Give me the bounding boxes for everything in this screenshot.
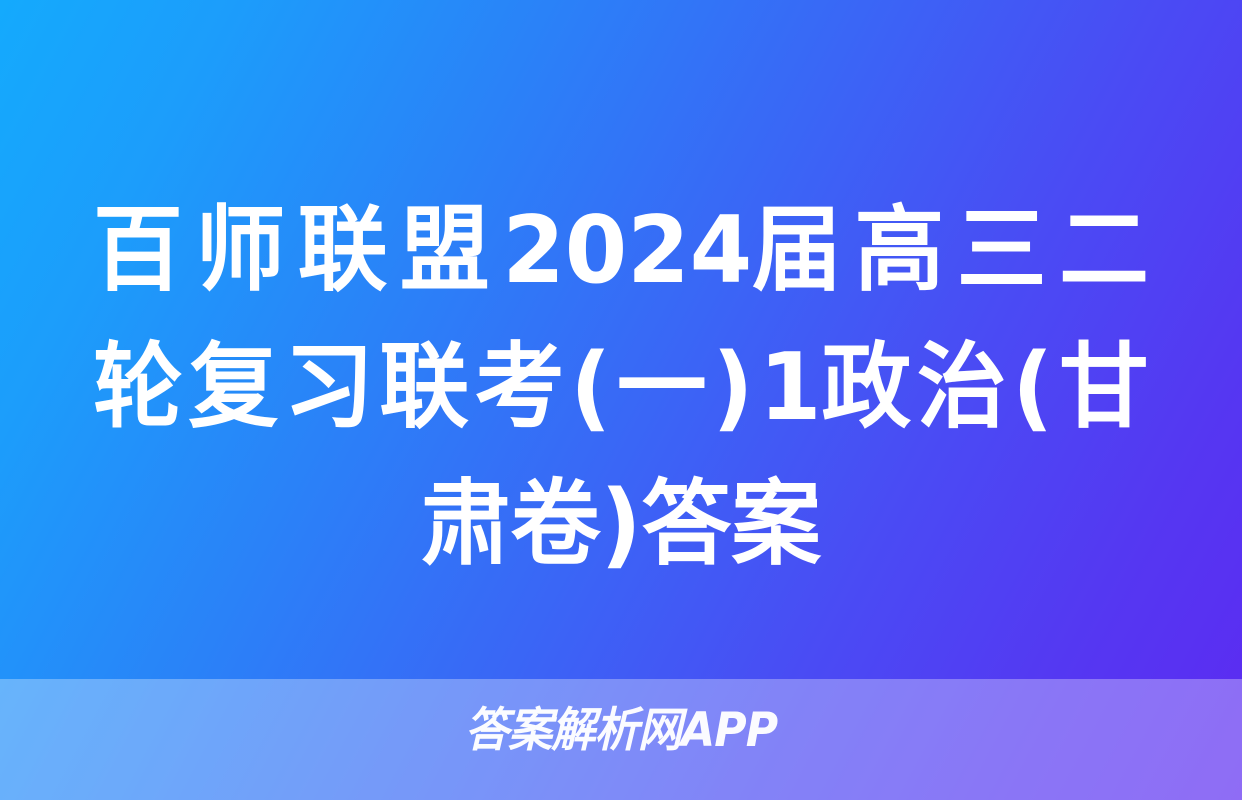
answer-cover-poster: 百 师 联 盟 2024届 高 三 二 轮 复 习 联 考 ( 一 ) 1政 治… bbox=[0, 0, 1242, 800]
title-line-2-seg-10: ( bbox=[1012, 319, 1053, 456]
title-line-1-seg-6: 三 bbox=[957, 182, 1047, 319]
title-line-2-seg-0: 轮 bbox=[93, 319, 183, 456]
title-line-2-seg-6: 一 bbox=[617, 319, 707, 456]
title-line-1-seg-4: 2024届 bbox=[502, 182, 842, 319]
title-line-2: 轮 复 习 联 考 ( 一 ) 1政 治 ( 甘 bbox=[93, 319, 1149, 456]
title-line-1-seg-1: 师 bbox=[195, 182, 285, 319]
title-line-1-seg-0: 百 bbox=[93, 182, 183, 319]
watermark-label: 答案解析网APP bbox=[37, 703, 1204, 759]
title-line-2-seg-5: ( bbox=[570, 319, 611, 456]
title-line-3: 肃卷)答案 bbox=[93, 456, 1149, 593]
title-line-2-seg-3: 联 bbox=[379, 319, 469, 456]
title-line-1-seg-3: 盟 bbox=[400, 182, 490, 319]
title-line-2-seg-2: 习 bbox=[284, 319, 374, 456]
title-line-2-seg-4: 考 bbox=[475, 319, 565, 456]
title-line-1-seg-7: 二 bbox=[1059, 182, 1149, 319]
title-line-1-seg-5: 高 bbox=[854, 182, 944, 319]
title-line-2-seg-9: 治 bbox=[917, 319, 1007, 456]
title-line-2-seg-1: 复 bbox=[189, 319, 279, 456]
title-line-1-seg-2: 联 bbox=[298, 182, 388, 319]
title-line-2-seg-11: 甘 bbox=[1059, 319, 1149, 456]
title-line-2-seg-8: 1政 bbox=[759, 319, 911, 456]
title-line-1: 百 师 联 盟 2024届 高 三 二 bbox=[93, 182, 1149, 319]
page-title: 百 师 联 盟 2024届 高 三 二 轮 复 习 联 考 ( 一 ) 1政 治… bbox=[74, 182, 1168, 593]
title-line-2-seg-7: ) bbox=[712, 319, 753, 456]
